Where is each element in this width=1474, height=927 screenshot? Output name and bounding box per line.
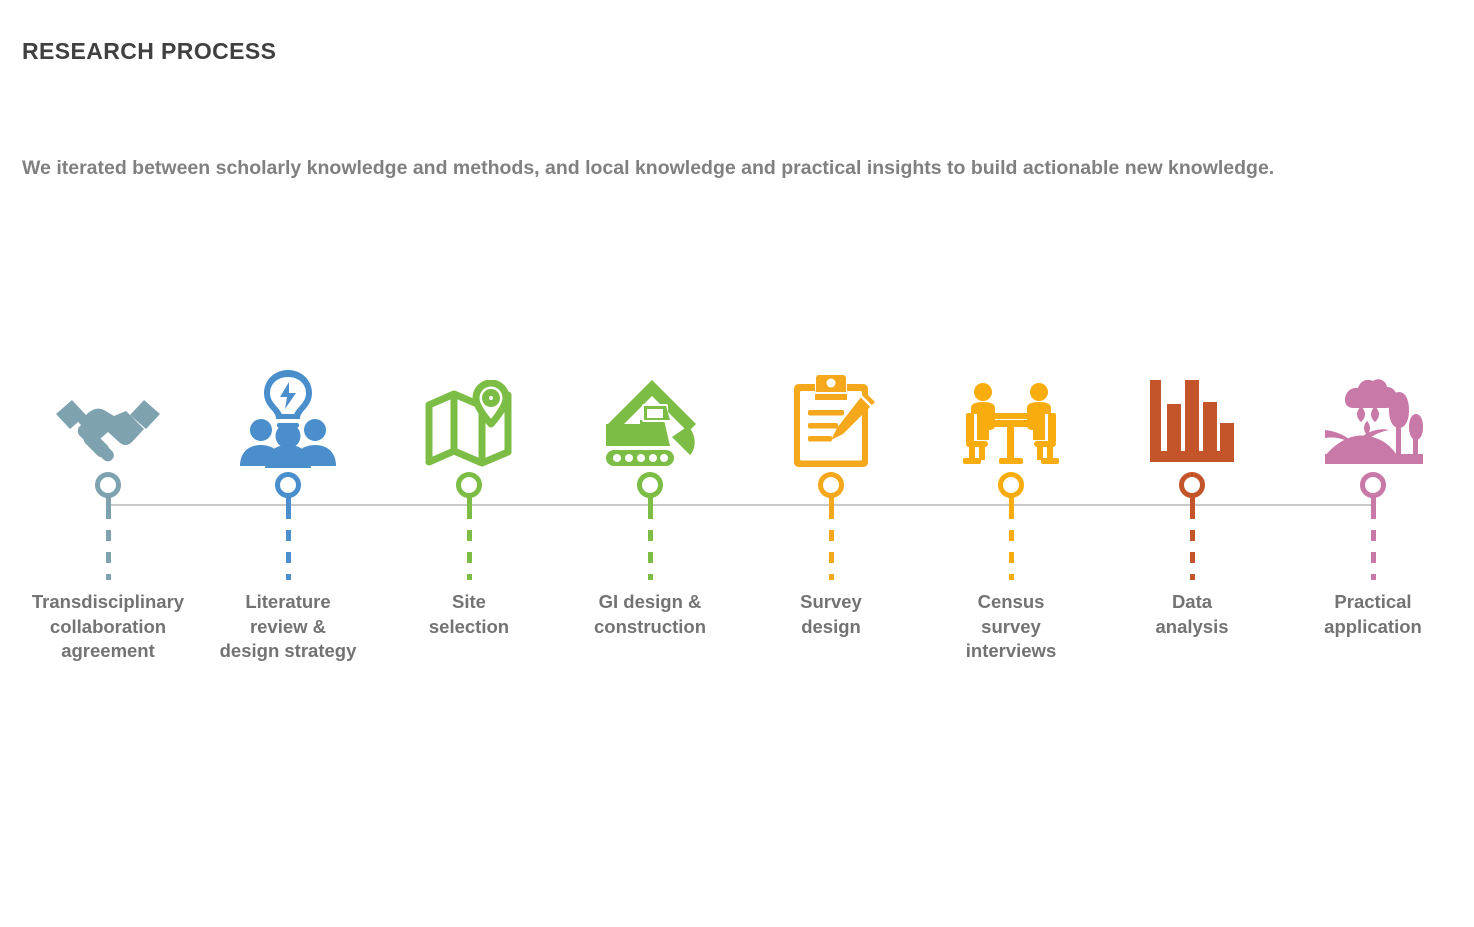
- marker-drop-line: [195, 508, 381, 580]
- timeline-stage[interactable]: Censussurveyinterviews: [918, 352, 1104, 664]
- research-process-timeline: Transdisciplinarycollaborationagreement …: [0, 352, 1474, 702]
- timeline-marker[interactable]: [195, 472, 381, 506]
- marker-drop-line: [918, 508, 1104, 580]
- stage-label: Practicalapplication: [1280, 590, 1466, 639]
- timeline-marker[interactable]: [918, 472, 1104, 506]
- stage-label-line: Literature: [195, 590, 381, 615]
- people-idea-icon: [195, 352, 381, 472]
- landscape-rain-icon: [1280, 352, 1466, 472]
- stage-label: GI design &construction: [557, 590, 743, 639]
- handshake-icon: [15, 352, 201, 472]
- timeline-marker[interactable]: [1099, 472, 1285, 506]
- marker-ring[interactable]: [95, 472, 121, 498]
- timeline-stage[interactable]: Dataanalysis: [1099, 352, 1285, 639]
- stage-label-line: Data: [1099, 590, 1285, 615]
- marker-ring[interactable]: [1179, 472, 1205, 498]
- stage-label-line: Transdisciplinary: [15, 590, 201, 615]
- timeline-marker[interactable]: [15, 472, 201, 506]
- stage-label: Literaturereview &design strategy: [195, 590, 381, 664]
- stage-label-line: application: [1280, 615, 1466, 640]
- stage-label: Dataanalysis: [1099, 590, 1285, 639]
- timeline-stage[interactable]: Surveydesign: [738, 352, 924, 639]
- marker-drop-line: [376, 508, 562, 580]
- excavator-icon: [557, 352, 743, 472]
- marker-ring[interactable]: [275, 472, 301, 498]
- marker-drop-line: [738, 508, 924, 580]
- stage-label-line: interviews: [918, 639, 1104, 664]
- timeline-marker[interactable]: [557, 472, 743, 506]
- timeline-marker[interactable]: [738, 472, 924, 506]
- stage-label-line: survey: [918, 615, 1104, 640]
- marker-drop-line: [15, 508, 201, 580]
- stage-label-line: Census: [918, 590, 1104, 615]
- marker-ring[interactable]: [1360, 472, 1386, 498]
- stage-label-line: agreement: [15, 639, 201, 664]
- stage-label-line: analysis: [1099, 615, 1285, 640]
- stage-label-line: design: [738, 615, 924, 640]
- marker-drop-line: [1099, 508, 1285, 580]
- stage-label-line: Practical: [1280, 590, 1466, 615]
- page-subtitle: We iterated between scholarly knowledge …: [22, 157, 1274, 180]
- stage-label: Transdisciplinarycollaborationagreement: [15, 590, 201, 664]
- interview-table-icon: [918, 352, 1104, 472]
- stage-label-line: design strategy: [195, 639, 381, 664]
- stage-label-line: review &: [195, 615, 381, 640]
- stage-label-line: selection: [376, 615, 562, 640]
- timeline-stage[interactable]: GI design &construction: [557, 352, 743, 639]
- marker-ring[interactable]: [637, 472, 663, 498]
- clipboard-pencil-icon: [738, 352, 924, 472]
- timeline-stage[interactable]: Literaturereview &design strategy: [195, 352, 381, 664]
- marker-drop-line: [557, 508, 743, 580]
- stage-label: Censussurveyinterviews: [918, 590, 1104, 664]
- stage-label-line: collaboration: [15, 615, 201, 640]
- timeline-marker[interactable]: [1280, 472, 1466, 506]
- timeline-marker[interactable]: [376, 472, 562, 506]
- marker-ring[interactable]: [456, 472, 482, 498]
- marker-ring[interactable]: [998, 472, 1024, 498]
- page-title: RESEARCH PROCESS: [22, 38, 276, 65]
- timeline-stage[interactable]: Transdisciplinarycollaborationagreement: [15, 352, 201, 664]
- map-pin-icon: [376, 352, 562, 472]
- timeline-stage[interactable]: Siteselection: [376, 352, 562, 639]
- timeline-stage[interactable]: Practicalapplication: [1280, 352, 1466, 639]
- stage-label: Surveydesign: [738, 590, 924, 639]
- marker-drop-line: [1280, 508, 1466, 580]
- marker-ring[interactable]: [818, 472, 844, 498]
- stage-label-line: Survey: [738, 590, 924, 615]
- stage-label-line: construction: [557, 615, 743, 640]
- stage-label-line: GI design &: [557, 590, 743, 615]
- bar-chart-icon: [1099, 352, 1285, 472]
- stage-label-line: Site: [376, 590, 562, 615]
- stage-label: Siteselection: [376, 590, 562, 639]
